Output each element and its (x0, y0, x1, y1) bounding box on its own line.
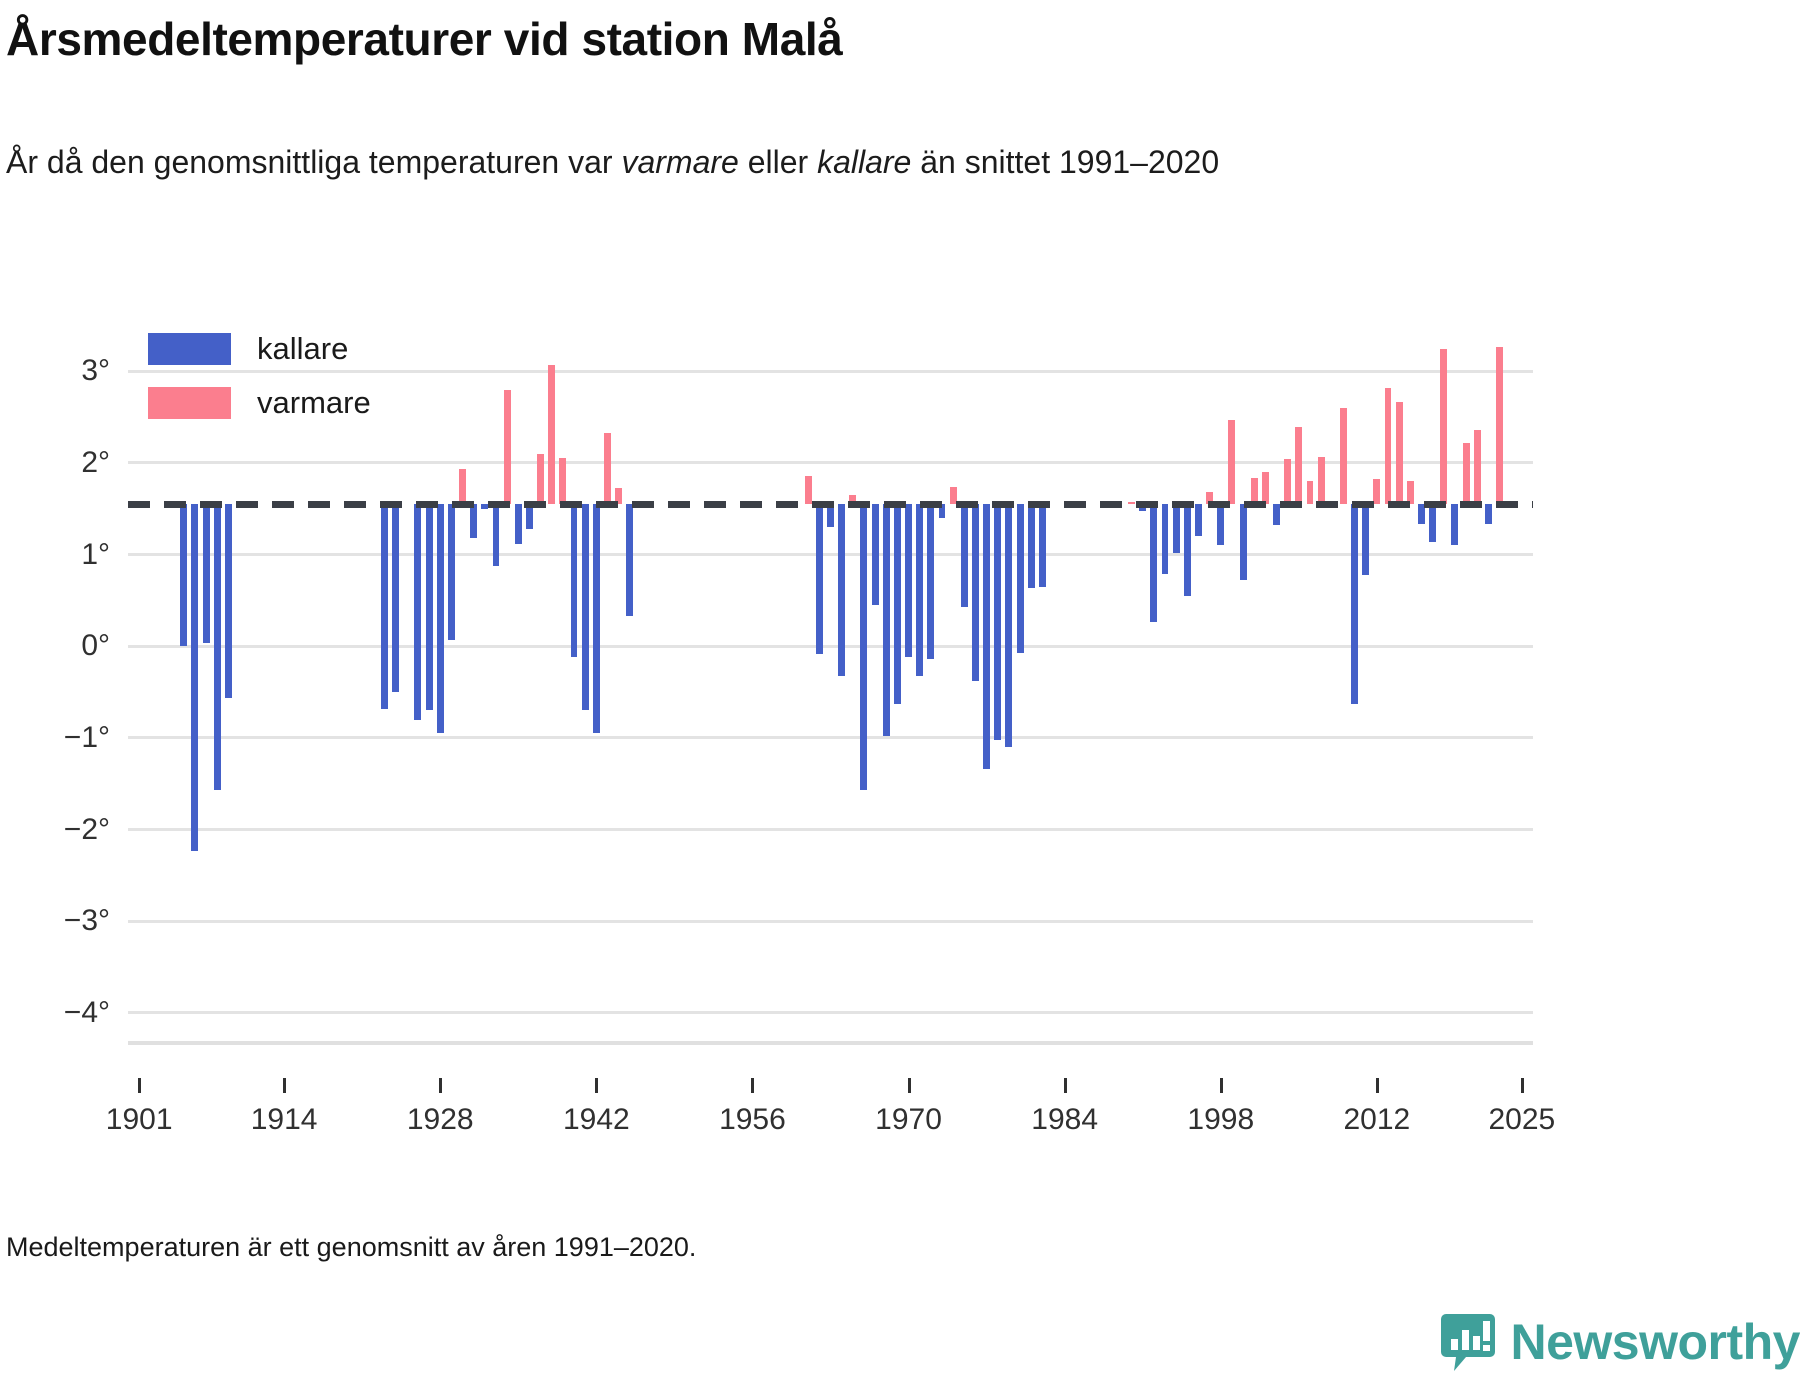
chart-page: Årsmedeltemperaturer vid station Malå År… (0, 0, 1800, 1400)
x-axis-tick-mark (1376, 1078, 1379, 1093)
legend-item-kallare[interactable]: kallare (148, 326, 371, 372)
chart-note: Medeltemperaturen är ett genomsnitt av å… (6, 1232, 696, 1263)
bar-1996[interactable] (1195, 504, 1202, 536)
bar-1935[interactable] (515, 504, 522, 543)
x-axis-tick-label: 1942 (563, 1103, 630, 1137)
logo-wordmark: Newsworthy (1510, 1313, 1800, 1371)
bar-1909[interactable] (225, 504, 232, 698)
y-axis-tick-label: −4° (0, 996, 110, 1030)
bar-1905[interactable] (180, 504, 187, 646)
bar-2005[interactable] (1295, 427, 1302, 504)
legend-label-kallare: kallare (257, 331, 348, 367)
x-axis-tick-label: 1928 (407, 1103, 474, 1137)
bar-2002[interactable] (1262, 472, 1269, 504)
bar-2009[interactable] (1340, 408, 1347, 504)
bar-2018[interactable] (1440, 349, 1447, 504)
bar-1907[interactable] (203, 504, 210, 643)
legend-swatch-kallare (148, 333, 231, 365)
y-axis-tick-label: −1° (0, 721, 110, 755)
bar-2007[interactable] (1318, 457, 1325, 504)
x-axis-tick-label: 1901 (106, 1103, 173, 1137)
gridline-y (128, 645, 1533, 648)
bar-1980[interactable] (1017, 504, 1024, 653)
bar-1964[interactable] (838, 504, 845, 675)
bar-chart-speech-bubble-icon (1440, 1312, 1496, 1372)
x-axis-line (128, 1041, 1533, 1045)
bar-1966[interactable] (860, 504, 867, 790)
bar-1992[interactable] (1150, 504, 1157, 622)
bar-1940[interactable] (571, 504, 578, 657)
temperature-anomaly-chart: 3°2°1°0°−1°−2°−3°−4°19011914192819421956… (0, 0, 1800, 1400)
bar-1934[interactable] (504, 390, 511, 505)
x-axis-tick-mark (1220, 1078, 1223, 1093)
bar-1939[interactable] (559, 458, 566, 504)
bar-1982[interactable] (1039, 504, 1046, 587)
bar-1972[interactable] (927, 504, 934, 659)
y-axis-tick-label: 1° (0, 538, 110, 572)
bar-2014[interactable] (1396, 402, 1403, 505)
x-axis-tick-label: 1970 (875, 1103, 942, 1137)
chart-legend: kallare varmare (148, 326, 371, 434)
bar-1945[interactable] (626, 504, 633, 616)
bar-1926[interactable] (414, 504, 421, 720)
y-axis-tick-label: 2° (0, 446, 110, 480)
x-axis-tick-mark (751, 1078, 754, 1093)
x-axis-tick-mark (1064, 1078, 1067, 1093)
bar-1930[interactable] (459, 469, 466, 504)
x-axis-tick-mark (908, 1078, 911, 1093)
legend-item-varmare[interactable]: varmare (148, 380, 371, 426)
bar-2019[interactable] (1451, 504, 1458, 545)
x-axis-tick-label: 1984 (1031, 1103, 1098, 1137)
bar-2011[interactable] (1362, 504, 1369, 575)
bar-1969[interactable] (894, 504, 901, 704)
x-axis-tick-label: 2025 (1488, 1103, 1555, 1137)
bar-1981[interactable] (1028, 504, 1035, 588)
bar-1998[interactable] (1217, 504, 1224, 545)
bar-2020[interactable] (1463, 443, 1470, 504)
bar-1999[interactable] (1228, 420, 1235, 504)
bar-1968[interactable] (883, 504, 890, 736)
bar-1923[interactable] (381, 504, 388, 709)
bar-1942[interactable] (593, 504, 600, 733)
x-axis-tick-label: 2012 (1344, 1103, 1411, 1137)
bar-2004[interactable] (1284, 459, 1291, 504)
x-axis-tick-label: 1914 (251, 1103, 318, 1137)
gridline-y (128, 736, 1533, 739)
bar-1924[interactable] (392, 504, 399, 692)
bar-1962[interactable] (816, 504, 823, 654)
newsworthy-logo[interactable]: Newsworthy (1440, 1312, 1800, 1372)
y-axis-tick-label: −3° (0, 904, 110, 938)
bar-1933[interactable] (493, 504, 500, 565)
bar-1993[interactable] (1162, 504, 1169, 574)
y-axis-tick-label: 3° (0, 354, 110, 388)
x-axis-tick-label: 1998 (1187, 1103, 1254, 1137)
bar-1994[interactable] (1173, 504, 1180, 553)
bar-1927[interactable] (426, 504, 433, 710)
bar-1938[interactable] (548, 365, 555, 504)
bar-1941[interactable] (582, 504, 589, 710)
bar-1976[interactable] (972, 504, 979, 681)
bar-1936[interactable] (526, 504, 533, 529)
legend-swatch-varmare (148, 387, 231, 419)
bar-1908[interactable] (214, 504, 221, 790)
x-axis-tick-label: 1956 (719, 1103, 786, 1137)
bar-1928[interactable] (437, 504, 444, 733)
bar-1971[interactable] (916, 504, 923, 676)
bar-2021[interactable] (1474, 430, 1481, 504)
x-axis-tick-mark (283, 1078, 286, 1093)
bar-1979[interactable] (1005, 504, 1012, 747)
bar-1978[interactable] (994, 504, 1001, 740)
legend-label-varmare: varmare (257, 385, 371, 421)
gridline-y (128, 920, 1533, 923)
y-axis-tick-label: −2° (0, 813, 110, 847)
x-axis-tick-mark (1521, 1078, 1524, 1093)
bar-2010[interactable] (1351, 504, 1358, 704)
gridline-y (128, 828, 1533, 831)
bar-1937[interactable] (537, 454, 544, 504)
reference-baseline (128, 501, 1533, 508)
plot-area: 3°2°1°0°−1°−2°−3°−4°19011914192819421956… (128, 330, 1533, 1045)
x-axis-tick-mark (138, 1078, 141, 1093)
bar-1967[interactable] (872, 504, 879, 605)
bar-1970[interactable] (905, 504, 912, 657)
gridline-y (128, 553, 1533, 556)
bar-1977[interactable] (983, 504, 990, 769)
bar-1995[interactable] (1184, 504, 1191, 596)
y-axis-tick-label: 0° (0, 629, 110, 663)
bar-2013[interactable] (1385, 388, 1392, 504)
bar-2000[interactable] (1240, 504, 1247, 580)
x-axis-tick-mark (595, 1078, 598, 1093)
bar-1929[interactable] (448, 504, 455, 640)
bar-1931[interactable] (470, 504, 477, 538)
bar-2017[interactable] (1429, 504, 1436, 542)
bar-2023[interactable] (1496, 347, 1503, 504)
x-axis-tick-mark (439, 1078, 442, 1093)
bar-1943[interactable] (604, 433, 611, 505)
gridline-y (128, 1011, 1533, 1014)
bar-1906[interactable] (191, 504, 198, 851)
bar-1975[interactable] (961, 504, 968, 607)
